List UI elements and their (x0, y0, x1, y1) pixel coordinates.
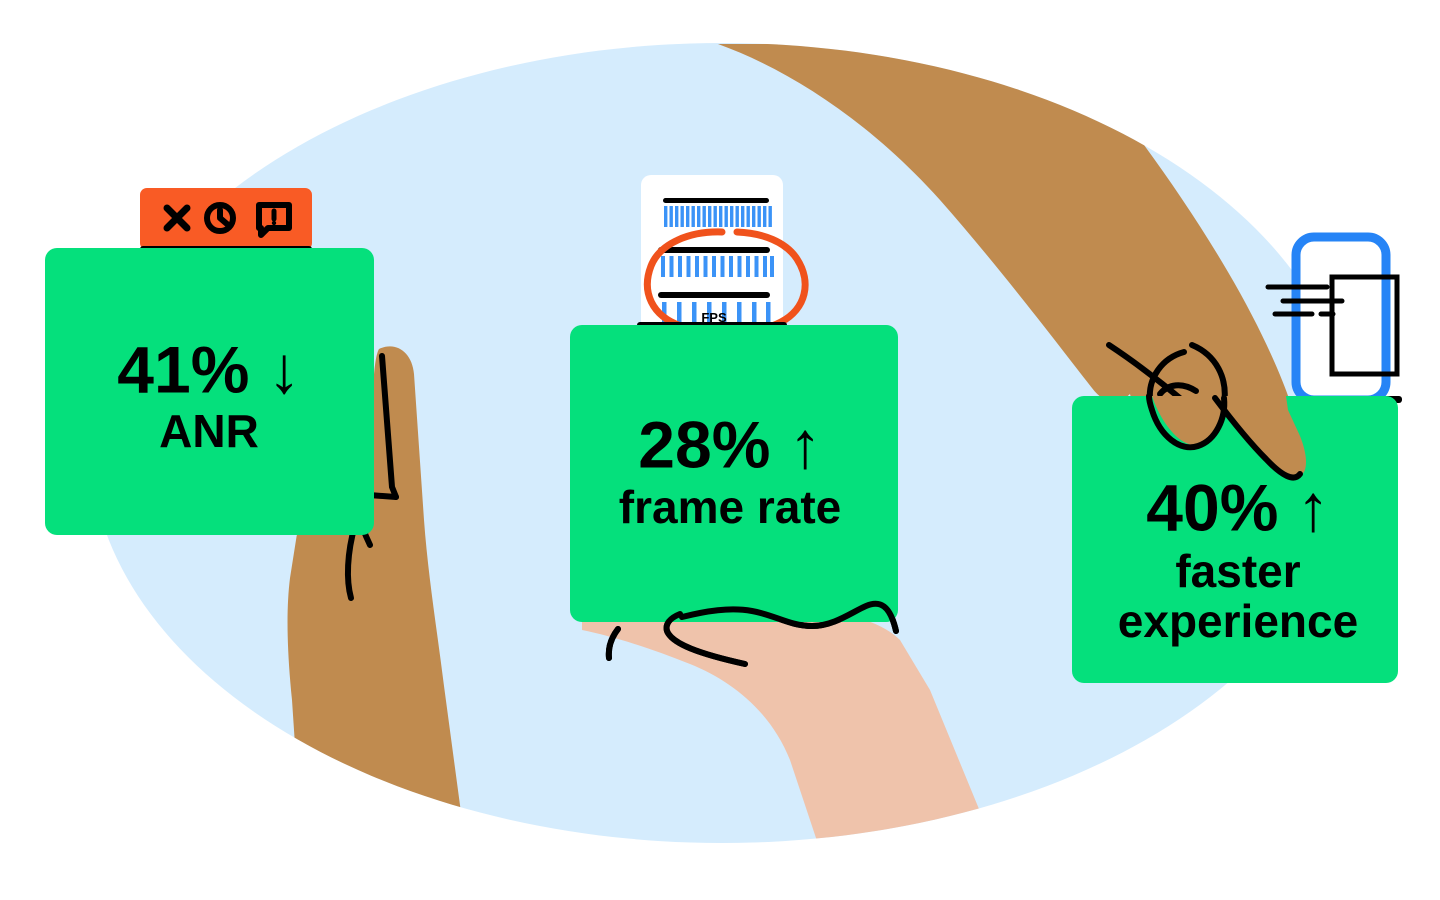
performance-metrics-illustration: 41% ↓ ANR (0, 0, 1440, 900)
error-badge (140, 188, 312, 253)
illustration-canvas: 41% ↓ ANR (0, 0, 1440, 900)
anr-card-label: ANR (159, 405, 259, 457)
faster-experience-card-label-line1: faster (1175, 545, 1300, 597)
frame-rate-card-label: frame rate (619, 481, 841, 533)
frame-rate-card-value: 28% ↑ (638, 407, 821, 481)
anr-card-value: 41% ↓ (117, 332, 300, 406)
faster-experience-card-label-line2: experience (1118, 595, 1358, 647)
fps-chart: FPS (641, 175, 805, 333)
faster-experience-card-value: 40% ↑ (1146, 470, 1329, 544)
